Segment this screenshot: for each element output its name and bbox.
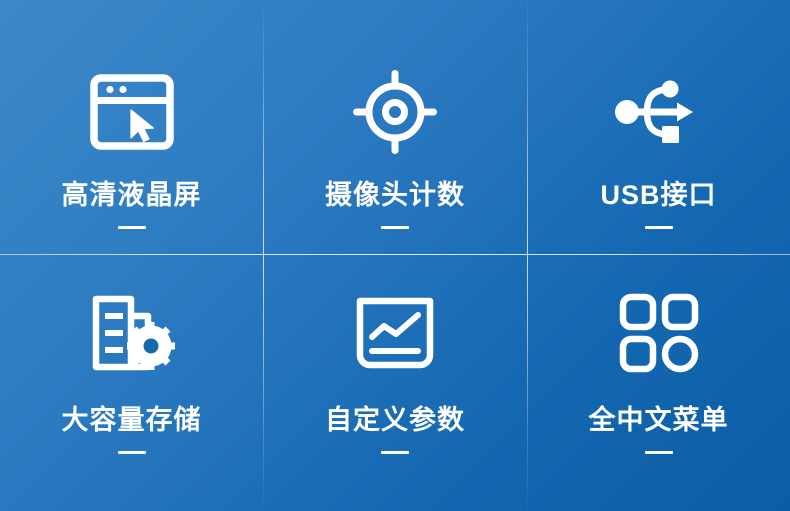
label-underline-dash	[118, 451, 146, 454]
feature-cell-usb-port[interactable]: USB接口	[527, 0, 790, 255]
label-underline-dash	[381, 451, 409, 454]
label-underline-dash	[381, 226, 409, 229]
feature-label: 大容量存储	[62, 407, 202, 434]
feature-label: 全中文菜单	[589, 407, 729, 434]
browser-window-cursor-icon	[90, 66, 174, 158]
label-underline-dash	[118, 226, 146, 229]
feature-cell-custom-parameters[interactable]: 自定义参数	[263, 255, 527, 511]
feature-cell-hd-lcd-screen[interactable]: 高清液晶屏	[0, 0, 263, 255]
label-underline-dash	[645, 226, 673, 229]
feature-banner: 高清液晶屏 摄像头计数	[0, 0, 790, 511]
server-gear-icon	[88, 287, 176, 379]
feature-grid: 高清液晶屏 摄像头计数	[0, 0, 790, 511]
report-chart-icon	[356, 287, 434, 379]
crosshair-target-icon	[353, 66, 437, 158]
grid-menu-icon	[619, 287, 699, 379]
usb-icon	[613, 66, 705, 158]
feature-cell-large-capacity-storage[interactable]: 大容量存储	[0, 255, 263, 511]
feature-cell-full-chinese-menu[interactable]: 全中文菜单	[527, 255, 790, 511]
feature-cell-camera-counting[interactable]: 摄像头计数	[263, 0, 527, 255]
feature-label: USB接口	[600, 182, 716, 209]
label-underline-dash	[645, 451, 673, 454]
feature-label: 高清液晶屏	[62, 182, 202, 209]
feature-label: 摄像头计数	[325, 182, 465, 209]
feature-label: 自定义参数	[325, 407, 465, 434]
